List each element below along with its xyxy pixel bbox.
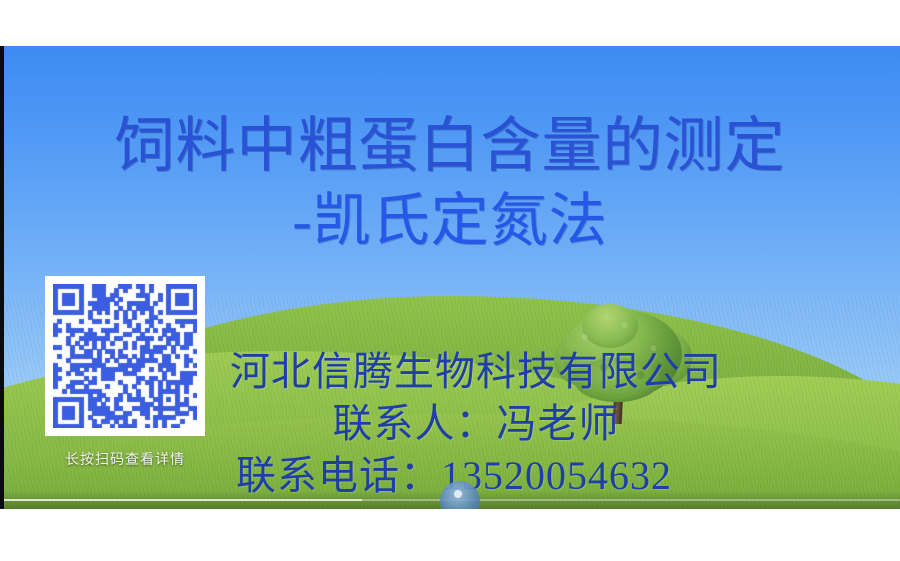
player-left-border <box>0 46 4 509</box>
video-title-secondary: -凯氏定氮法 <box>0 190 900 252</box>
page-root: 饲料中粗蛋白含量的测定 -凯氏定氮法 河北信腾生物科技有限公司 联系人：冯老师 … <box>0 0 900 561</box>
qr-code-block[interactable]: 长按扫码查看详情 <box>45 276 205 469</box>
video-player[interactable]: 饲料中粗蛋白含量的测定 -凯氏定氮法 河北信腾生物科技有限公司 联系人：冯老师 … <box>0 46 900 509</box>
qr-caption: 长按扫码查看详情 <box>45 449 205 469</box>
play-indicator-dot <box>454 490 462 498</box>
video-title-primary: 饲料中粗蛋白含量的测定 <box>0 114 900 178</box>
progress-fill <box>4 499 362 501</box>
qr-code-icon[interactable] <box>53 284 197 428</box>
qr-code-panel[interactable] <box>45 276 205 436</box>
